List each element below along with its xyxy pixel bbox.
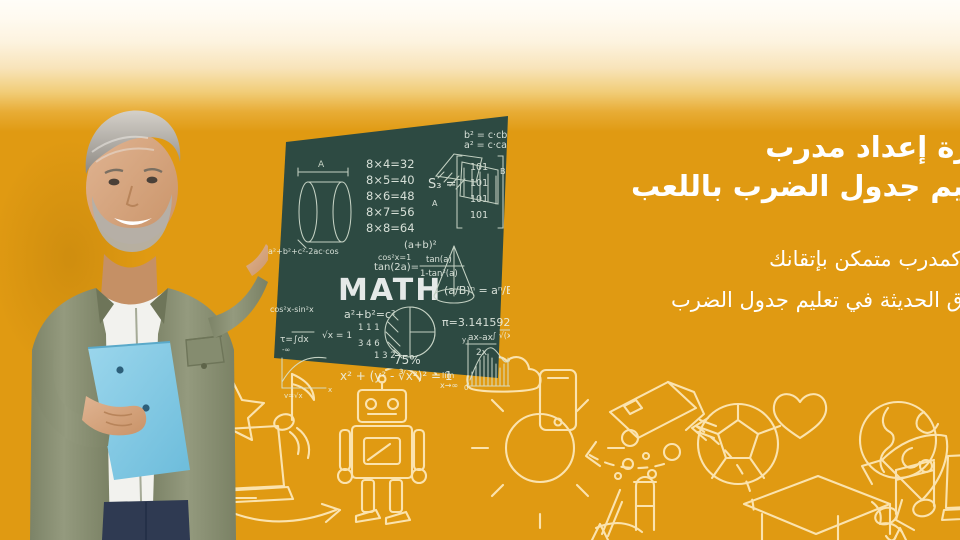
arrow-doodle xyxy=(586,442,664,468)
svg-text:8×8=64: 8×8=64 xyxy=(366,221,415,235)
graduation-cap-doodle xyxy=(744,476,896,540)
svg-text:τ=∫dx: τ=∫dx xyxy=(280,335,309,345)
sun-doodle xyxy=(472,382,624,528)
svg-text:8×4=32: 8×4=32 xyxy=(366,157,415,171)
svg-text:a²+b²+c²-2ac·cos: a²+b²+c²-2ac·cos xyxy=(268,247,339,256)
svg-text:tan(2a)=: tan(2a)= xyxy=(374,262,419,273)
head xyxy=(86,111,181,252)
eye xyxy=(109,179,120,186)
svg-text:√x = 1: √x = 1 xyxy=(322,330,352,341)
soccer-ball-doodle xyxy=(696,404,780,484)
svg-text:cos²x-sin²x: cos²x-sin²x xyxy=(270,305,314,314)
svg-text:1 1 1: 1 1 1 xyxy=(358,323,380,333)
svg-text:75%: 75% xyxy=(394,353,421,367)
math-wordmark: MATH xyxy=(338,273,442,308)
svg-text:x² + (y² - ∛x²)² = 1: x² + (y² - ∛x²)² = 1 xyxy=(340,369,453,383)
headline: دورة إعداد مدرب تعليم جدول الضرب باللعب xyxy=(444,128,960,205)
equation-list: 8×4=32 8×5=40 8×6=48 8×7=56 8×8=64 xyxy=(366,157,415,235)
svg-text:8×7=56: 8×7=56 xyxy=(366,205,415,219)
globe-doodle xyxy=(860,402,938,478)
smartphone-doodle xyxy=(540,370,576,430)
eye xyxy=(147,177,158,184)
headline-line-2: تعليم جدول الضرب باللعب xyxy=(444,167,960,206)
svg-text:y: y xyxy=(462,336,466,344)
svg-text:(a+b)²: (a+b)² xyxy=(404,240,437,251)
svg-text:x→∞: x→∞ xyxy=(440,381,458,390)
svg-text:1 3 2: 1 3 2 xyxy=(374,351,396,361)
subheadline-line-2: الطرق الحديثة في تعليم جدول الضرب xyxy=(444,280,960,321)
subheadline-line-1: تميز كمدرب متمكن بإتقانك xyxy=(444,239,960,280)
svg-text:8×6=48: 8×6=48 xyxy=(366,189,415,203)
svg-text:y=√x: y=√x xyxy=(284,392,303,398)
arm-with-chalk xyxy=(208,244,268,338)
heart-doodle xyxy=(774,394,826,438)
svg-text:∫ √(x+a²)/x: ∫ √(x+a²)/x xyxy=(492,331,510,340)
headline-line-1: دورة إعداد مدرب xyxy=(444,128,960,167)
svg-text:0: 0 xyxy=(464,384,468,392)
svg-text:A: A xyxy=(318,160,325,170)
svg-text:lim: lim xyxy=(442,371,454,380)
svg-text:a²+b²=c²: a²+b²=c² xyxy=(344,308,395,321)
svg-text:8×5=40: 8×5=40 xyxy=(366,173,415,187)
svg-text:x: x xyxy=(328,386,332,394)
svg-text:ax-ax: ax-ax xyxy=(468,333,494,343)
svg-text:A: A xyxy=(432,199,438,208)
subheadline: تميز كمدرب متمكن بإتقانك الطرق الحديثة ف… xyxy=(444,239,960,321)
svg-text:3 4 6: 3 4 6 xyxy=(358,339,380,349)
svg-text:cos²x=1: cos²x=1 xyxy=(378,253,411,262)
instructor-photo xyxy=(0,78,268,540)
toy-truck-doodle xyxy=(610,382,716,460)
svg-text:-∞: -∞ xyxy=(282,346,290,354)
curve-graph: y=√x x xyxy=(282,357,332,398)
star-doodle xyxy=(871,528,929,540)
promo-banner: A 8×4=32 8×5=40 8×6=48 8×7=56 8×8=64 S₃ … xyxy=(0,0,960,540)
banner-text: دورة إعداد مدرب تعليم جدول الضرب باللعب … xyxy=(444,128,960,321)
